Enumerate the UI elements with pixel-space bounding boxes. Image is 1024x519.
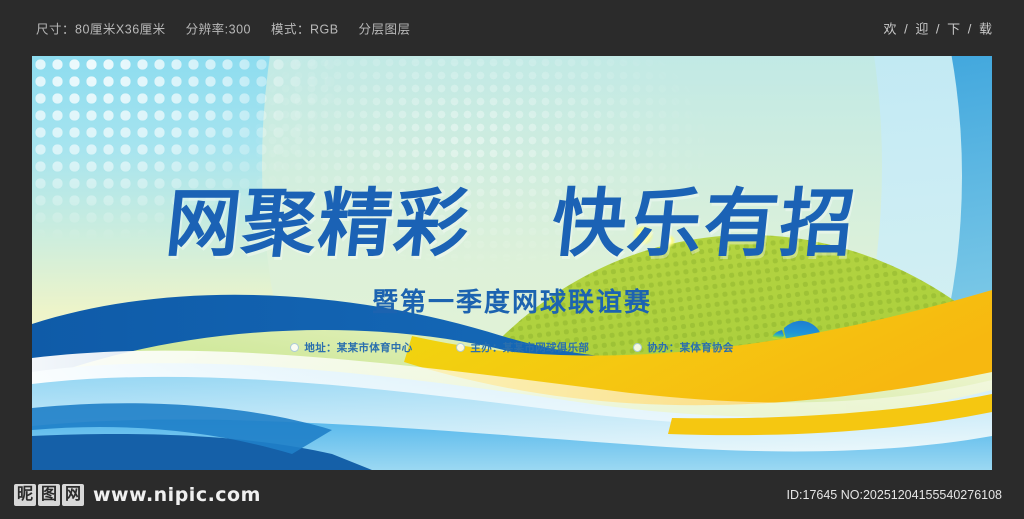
download-invite-label[interactable]: 欢 / 迎 / 下 / 载 <box>883 19 994 38</box>
bullet-icon <box>290 343 299 352</box>
bullet-icon <box>456 343 465 352</box>
meta-resolution: 分辨率:300 <box>186 23 251 37</box>
info-tag-organizer-label: 主办：某某市网球俱乐部 <box>470 340 589 355</box>
info-tag-address-label: 地址：某某市体育中心 <box>304 340 412 355</box>
meta-size: 尺寸：80厘米X36厘米 <box>36 23 166 37</box>
info-tag-coorganizer-label: 协办：某体育协会 <box>647 340 733 355</box>
info-tag-address: 地址：某某市体育中心 <box>290 340 412 355</box>
image-meta-info: 尺寸：80厘米X36厘米 分辨率:300 模式：RGB 分层图层 <box>36 19 427 38</box>
poster-info-tags: 地址：某某市体育中心 主办：某某市网球俱乐部 协办：某体育协会 <box>32 340 992 355</box>
poster-title: 网聚精彩 快乐有招 <box>32 164 992 271</box>
bottom-watermark-bar: 昵 图 网 www.nipic.com ID:17645 NO:20251204… <box>0 470 1024 519</box>
info-tag-organizer: 主办：某某市网球俱乐部 <box>456 340 589 355</box>
nipic-logo[interactable]: 昵 图 网 www.nipic.com <box>14 484 261 506</box>
info-tag-coorganizer: 协办：某体育协会 <box>633 340 733 355</box>
poster-title-part1: 网聚精彩 <box>162 181 475 267</box>
screenshot-root: 尺寸：80厘米X36厘米 分辨率:300 模式：RGB 分层图层 欢 / 迎 /… <box>0 0 1024 519</box>
top-meta-bar: 尺寸：80厘米X36厘米 分辨率:300 模式：RGB 分层图层 欢 / 迎 /… <box>0 0 1024 56</box>
image-id-label: ID:17645 NO:20251204155540276108 <box>787 488 1002 502</box>
site-url-label: www.nipic.com <box>93 484 261 506</box>
bullet-icon <box>633 343 642 352</box>
logo-char-1: 昵 <box>14 484 36 506</box>
nipic-logo-chars: 昵 图 网 <box>14 484 84 506</box>
logo-char-2: 图 <box>38 484 60 506</box>
meta-color-mode: 模式：RGB <box>271 23 339 37</box>
bottom-wave-graphics <box>32 240 992 470</box>
poster-artwork: 网聚精彩 快乐有招 暨第一季度网球联谊赛 地址：某某市体育中心 主办：某某市网球… <box>32 56 992 470</box>
meta-layers: 分层图层 <box>359 23 411 37</box>
poster-subtitle: 暨第一季度网球联谊赛 <box>32 282 992 319</box>
poster-title-part2: 快乐有招 <box>548 181 861 267</box>
logo-char-3: 网 <box>62 484 84 506</box>
